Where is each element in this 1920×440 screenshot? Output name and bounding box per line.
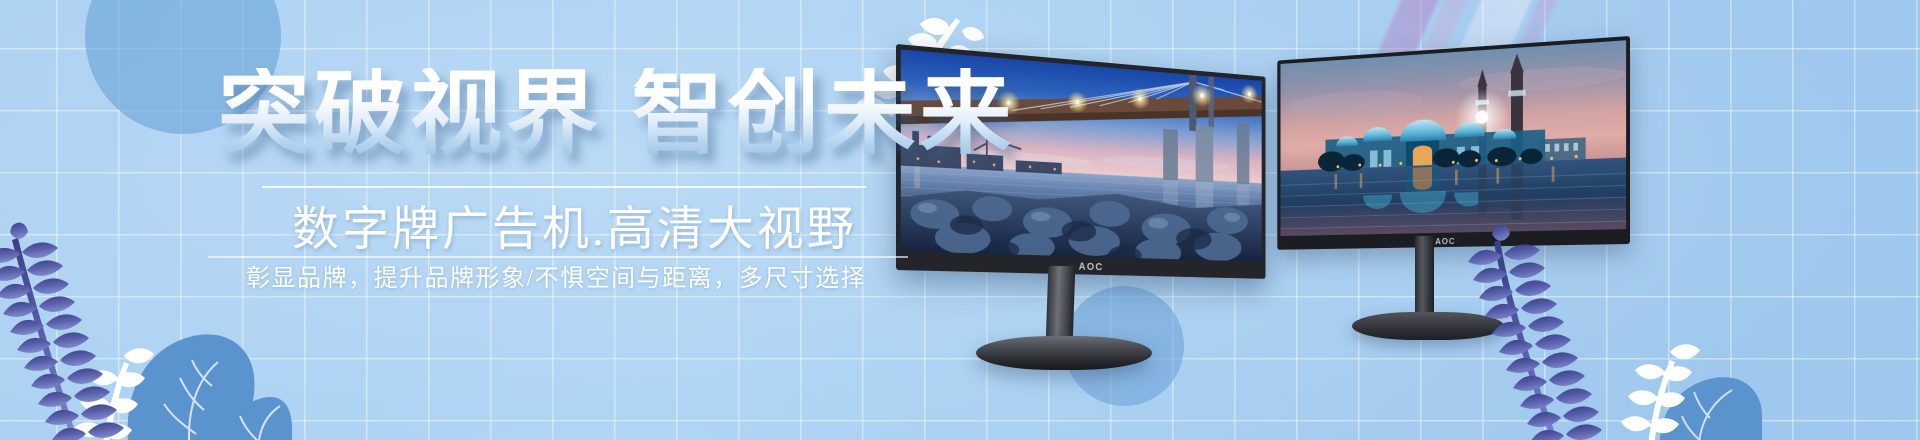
foliage-bottom-left-icon: [0, 166, 292, 440]
monitor-stand-base: [976, 336, 1152, 370]
monitor-panel: AOC: [1277, 36, 1630, 250]
monitor-stand-neck: [1046, 266, 1076, 344]
tagline: 彰显品牌，提升品牌形象/不惧空间与距离，多尺寸选择: [246, 258, 866, 293]
headline-divider: [262, 186, 866, 188]
monitor-screen-mosque: [1281, 40, 1627, 236]
promo-banner: AOC: [0, 0, 1920, 440]
foliage-bottom-right-icon: [1432, 220, 1762, 440]
headline: 突破视界 智创未来: [218, 68, 1016, 160]
subtitle: 数字牌广告机.高清大视野: [292, 190, 857, 259]
